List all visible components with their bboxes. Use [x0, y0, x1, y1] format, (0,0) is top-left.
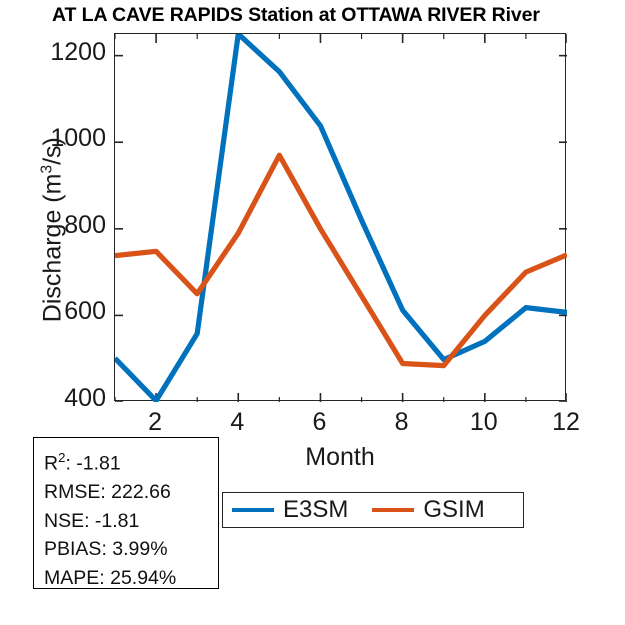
legend-label-e3sm: E3SM [283, 496, 348, 524]
x-tick-label: 4 [207, 408, 267, 437]
chart-legend: E3SM GSIM [222, 492, 524, 528]
stat-pbias: PBIAS: 3.99% [44, 535, 218, 564]
y-tick-label: 400 [2, 384, 106, 413]
chart-title: AT LA CAVE RAPIDS Station at OTTAWA RIVE… [52, 4, 540, 27]
legend-swatch-gsim [372, 508, 414, 513]
plot-canvas [115, 34, 567, 402]
y-tick-label: 1000 [2, 124, 106, 153]
stat-r-squared-symbol: R [44, 453, 58, 475]
y-axis-label-exponent: 3 [38, 165, 55, 174]
plot-area [114, 33, 566, 401]
stat-rmse: RMSE: 222.66 [44, 478, 218, 507]
stat-r-squared-value: : -1.81 [65, 453, 120, 475]
series-line-e3sm [115, 34, 567, 401]
legend-label-gsim: GSIM [423, 496, 484, 524]
stat-mape: MAPE: 25.94% [44, 564, 218, 593]
series-line-gsim [115, 155, 567, 365]
legend-entry-e3sm[interactable]: E3SM [232, 493, 352, 527]
statistics-box: R2: -1.81 RMSE: 222.66 NSE: -1.81 PBIAS:… [33, 437, 219, 589]
y-tick-label: 800 [2, 211, 106, 240]
chart-figure: AT LA CAVE RAPIDS Station at OTTAWA RIVE… [0, 0, 625, 625]
x-tick-label: 10 [454, 408, 514, 437]
x-tick-label: 12 [536, 408, 596, 437]
y-tick-label: 600 [2, 297, 106, 326]
x-tick-label: 8 [372, 408, 432, 437]
legend-entry-gsim[interactable]: GSIM [372, 493, 488, 527]
y-tick-label: 1200 [2, 38, 106, 67]
series-lines [115, 34, 567, 401]
stat-r-squared: R2: -1.81 [44, 444, 218, 478]
axis-ticks [115, 34, 567, 402]
stat-nse: NSE: -1.81 [44, 507, 218, 536]
x-tick-label: 2 [125, 408, 185, 437]
x-tick-label: 6 [289, 408, 349, 437]
legend-swatch-e3sm [232, 508, 274, 513]
